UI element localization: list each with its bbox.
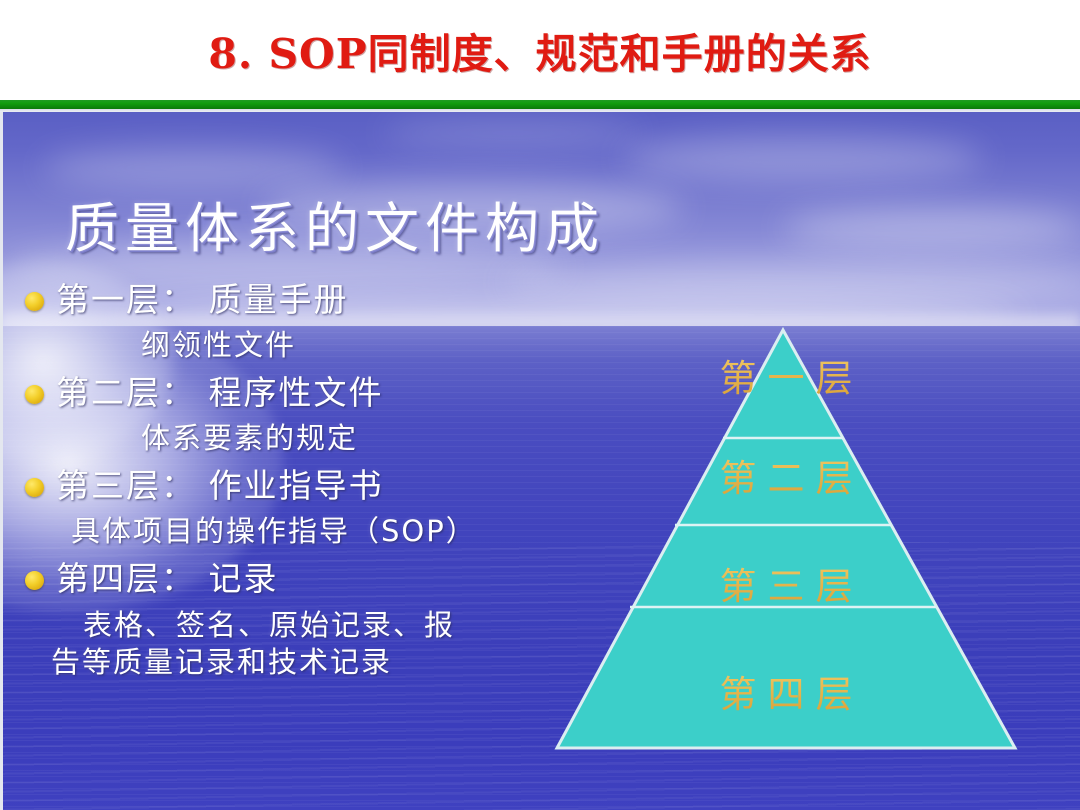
list-item: 第三层： 作业指导书 [15, 462, 575, 510]
bullet-sub-level-1: 纲领性文件 [141, 326, 575, 365]
pyramid-shape [551, 324, 1021, 754]
bullet-list: 第一层： 质量手册 纲领性文件 第二层： 程序性文件 体系要素的规定 第三层： … [15, 276, 575, 682]
slide-heading: 质量体系的文件构成 [65, 184, 605, 263]
bullet-label-level-3: 第三层： 作业指导书 [56, 462, 384, 510]
bullet-sub-level-2: 体系要素的规定 [141, 419, 575, 458]
pyramid-triangle [557, 330, 1015, 748]
page-title: 8. SOP同制度、规范和手册的关系 [208, 20, 871, 80]
bullet-dot-icon [25, 385, 44, 404]
list-item: 第二层： 程序性文件 [15, 369, 575, 417]
cloud-wisp [383, 120, 643, 146]
pyramid-diagram: 第一层 第二层 第三层 第四层 [551, 324, 1021, 754]
tail-line-2: 告等质量记录和技术记录 [51, 644, 575, 682]
bullet-sub-level-4: 表格、签名、原始记录、报 告等质量记录和技术记录 [51, 607, 575, 682]
tail-line-1: 表格、签名、原始记录、报 [83, 607, 575, 645]
bullet-dot-icon [25, 292, 44, 311]
bullet-dot-icon [25, 478, 44, 497]
cloud-wisp [503, 262, 1080, 302]
list-item: 第四层： 记录 [15, 555, 575, 603]
bullet-dot-icon [25, 571, 44, 590]
bullet-label-level-4: 第四层： 记录 [56, 555, 279, 603]
slide-screenshot: 8. SOP同制度、规范和手册的关系 质量体系的文件构成 第一层： 质量手册 纲… [0, 0, 1080, 810]
slide-canvas: 质量体系的文件构成 第一层： 质量手册 纲领性文件 第二层： 程序性文件 体系要… [0, 112, 1080, 810]
cloud-wisp [783, 208, 1080, 248]
bullet-label-level-2: 第二层： 程序性文件 [56, 369, 384, 417]
list-item: 第一层： 质量手册 [15, 276, 575, 324]
cloud-wisp [623, 136, 983, 180]
bullet-sub-level-3: 具体项目的操作指导（SOP） [71, 512, 575, 551]
green-divider-rule [0, 100, 1080, 109]
bullet-label-level-1: 第一层： 质量手册 [56, 276, 349, 324]
cloud-wisp [43, 148, 343, 188]
slide-title-band: 8. SOP同制度、规范和手册的关系 [0, 0, 1080, 100]
